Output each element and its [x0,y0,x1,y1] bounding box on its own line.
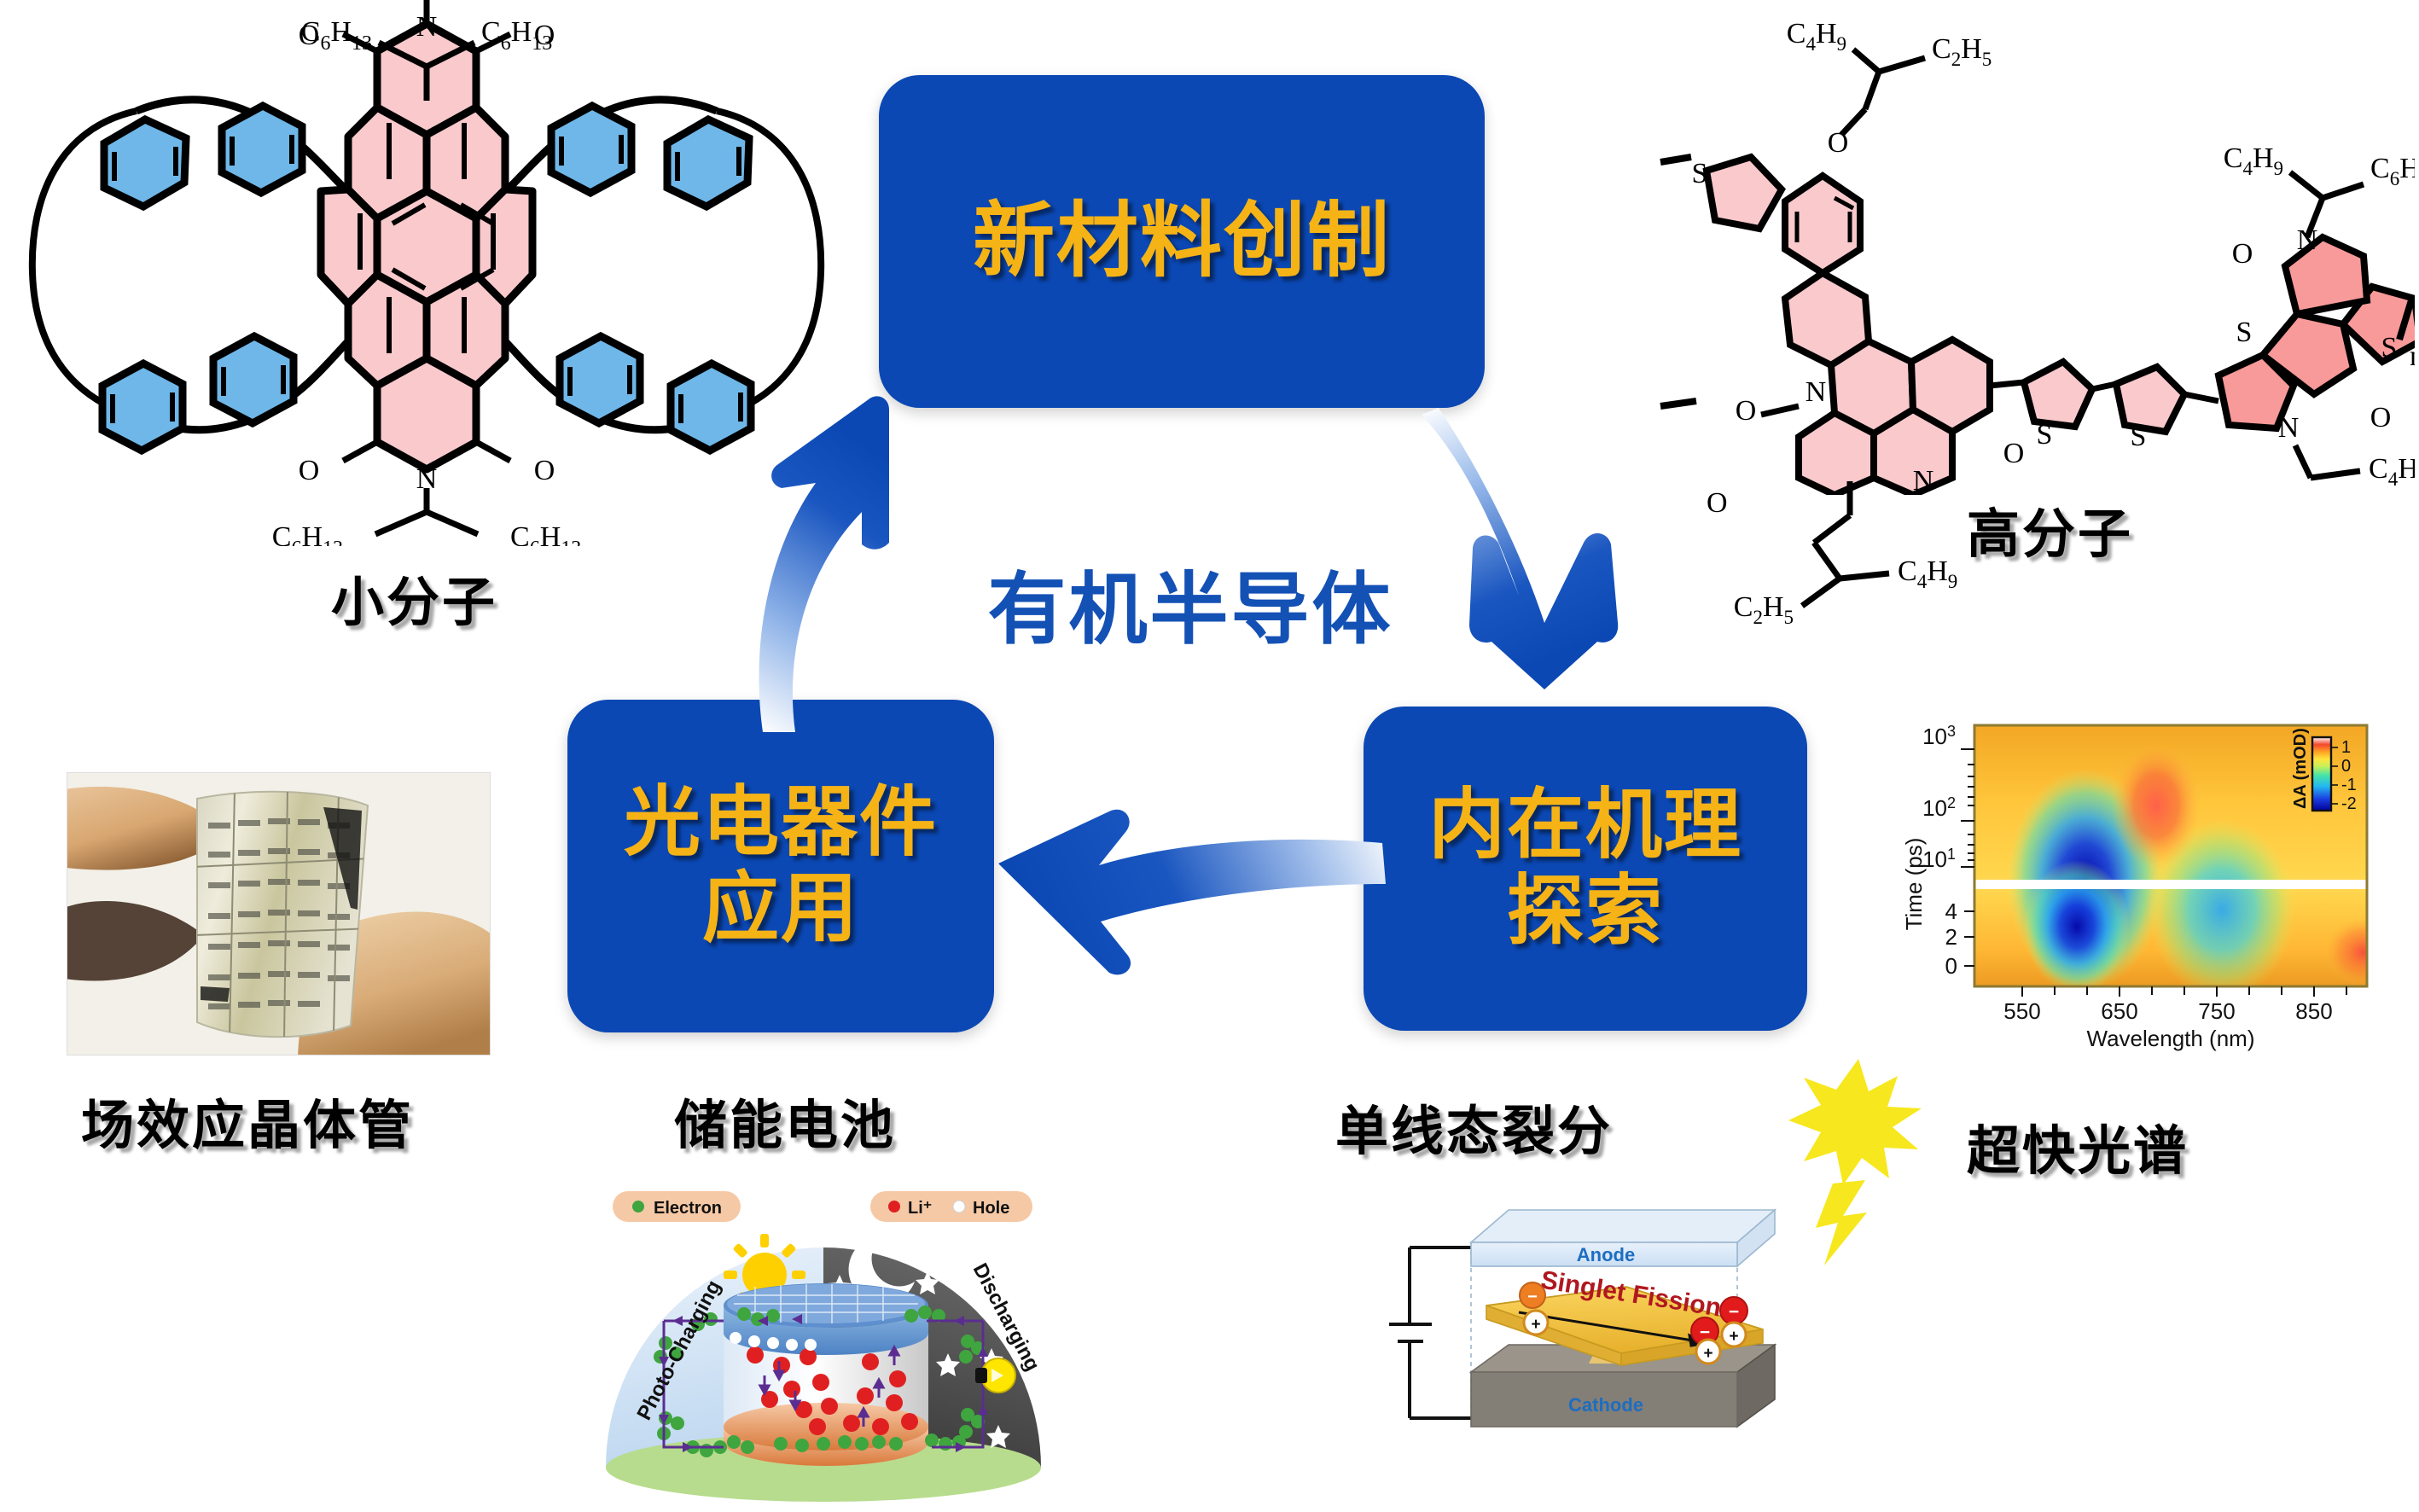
cathode-label: Cathode [1568,1394,1643,1416]
svg-text:+: + [1729,1328,1738,1346]
svg-text:+: + [1703,1345,1712,1363]
colorbar-tick-label: -2 [2341,794,2357,813]
arrow-mechanism-to-devices [981,802,1391,990]
colorbar-tick-label: 0 [2341,757,2351,776]
atom-label-S: S [2037,419,2053,451]
atom-label-S: S [1692,158,1708,189]
process-box-new-materials[interactable]: 新材料创制 [879,75,1485,408]
atom-label-O: O [534,455,555,486]
center-title: 有机半导体 [926,546,1455,660]
battery-symbol-icon [1389,1247,1471,1418]
photo-rechargeable-battery-schematic: Electron Li⁺ Hole Photo-Charging Dischar… [597,1186,1050,1512]
y-tick-label: 2 [1945,924,1957,950]
x-tick-label: 850 [2295,998,2332,1024]
atom-label-O: O [1707,487,1728,519]
legend-dot-electron [632,1201,644,1213]
colorbar-label: ΔA (mOD) [2291,728,2310,809]
caption-ultrafast-spectroscopy: 超快光谱 [1967,1108,2189,1184]
substituent-label: C6H13 [481,16,552,55]
flexible-transistor-photo [67,772,491,1055]
atom-label-O: O [1736,395,1757,427]
caption-singlet-fission: 单线态裂分 [1335,1088,1613,1165]
process-box-label: 光电器件 应用 [624,780,938,952]
process-box-label: 内在机理 探索 [1428,782,1742,955]
atom-label-S: S [2131,421,2147,452]
substituent-label: C6H13 [510,521,581,546]
svg-text:−: − [1527,1288,1538,1306]
caption-field-effect-transistor: 场效应晶体管 [81,1082,414,1159]
atom-label-O: O [2232,238,2253,270]
substituent-label: C4H9 [1787,18,1846,55]
caption-energy-storage-battery: 储能电池 [674,1082,896,1159]
legend-dot-lithium-ion [888,1201,900,1213]
colorbar: 1 0 -1 -2 ΔA (mOD) [2291,728,2357,813]
legend-label-electron: Electron [654,1199,722,1218]
ultrafast-transient-absorption-heatmap: 103 102 101 4 2 0 Time (ps) 550 650 750 … [1896,696,2408,1055]
singlet-fission-device-schematic: Anode Cathode − + − − + [1365,1195,1830,1512]
substituent-label: C2H5 [1734,591,1794,628]
substituent-label: C6H13 [2370,153,2415,189]
substituent-label: C4H9 [2369,453,2415,490]
y-tick-label: 101 [1922,846,1956,872]
y-tick-label: 103 [1922,723,1956,749]
atom-label-N: N [1806,376,1827,408]
atom-label-O: O [299,455,320,486]
colorbar-tick-label: -1 [2341,776,2357,794]
process-box-label: 新材料创制 [973,195,1391,288]
atom-label-N: N [2278,412,2300,444]
repeat-unit-label: n [2410,340,2415,372]
substituent-label: C2H5 [1932,33,1992,70]
substituent-label: C6H13 [272,521,343,546]
svg-text:+: + [1531,1316,1540,1334]
legend-label-hole: Hole [973,1199,1009,1218]
caption-polymer: 高分子 [1967,491,2133,567]
figure-canvas: O O O O N N C6H13 C6H13 C6H13 C6H13 [0,0,2419,1512]
y-tick-label: 102 [1922,794,1956,821]
fet-photo-illustration [67,773,490,1055]
polymer-left-thiophene: S [1655,119,1877,290]
x-tick-label: 650 [2101,998,2137,1024]
x-axis-label: Wavelength (nm) [2087,1026,2255,1051]
legend-dot-hole [953,1201,965,1213]
substituent-label: C4H9 [2224,142,2283,179]
process-box-mechanism[interactable]: 内在机理 探索 [1364,707,1807,1031]
y-axis-label: Time (ps) [1901,838,1927,931]
y-tick-label: 4 [1945,898,1957,924]
legend-label-lithium-ion: Li⁺ [908,1199,932,1218]
anode-label: Anode [1577,1244,1635,1265]
colorbar-tick-label: 1 [2341,738,2351,757]
small-molecule-top-substituents: C6H13 C6H13 [256,0,666,102]
process-box-devices[interactable]: 光电器件 应用 [567,700,994,1032]
atom-label-S: S [2236,317,2253,348]
substituent-label: C6H13 [301,16,372,55]
atom-label-O: O [2370,402,2392,433]
y-tick-label: 0 [1945,953,1957,979]
x-tick-label: 550 [2003,998,2040,1024]
substituent-label: C4H9 [1898,555,1957,592]
x-tick-label: 750 [2198,998,2235,1024]
atom-label-S: S [2381,332,2398,363]
atom-label-O: O [2003,438,2025,469]
caption-small-molecule: 小分子 [331,559,497,636]
svg-text:−: − [1729,1302,1739,1322]
